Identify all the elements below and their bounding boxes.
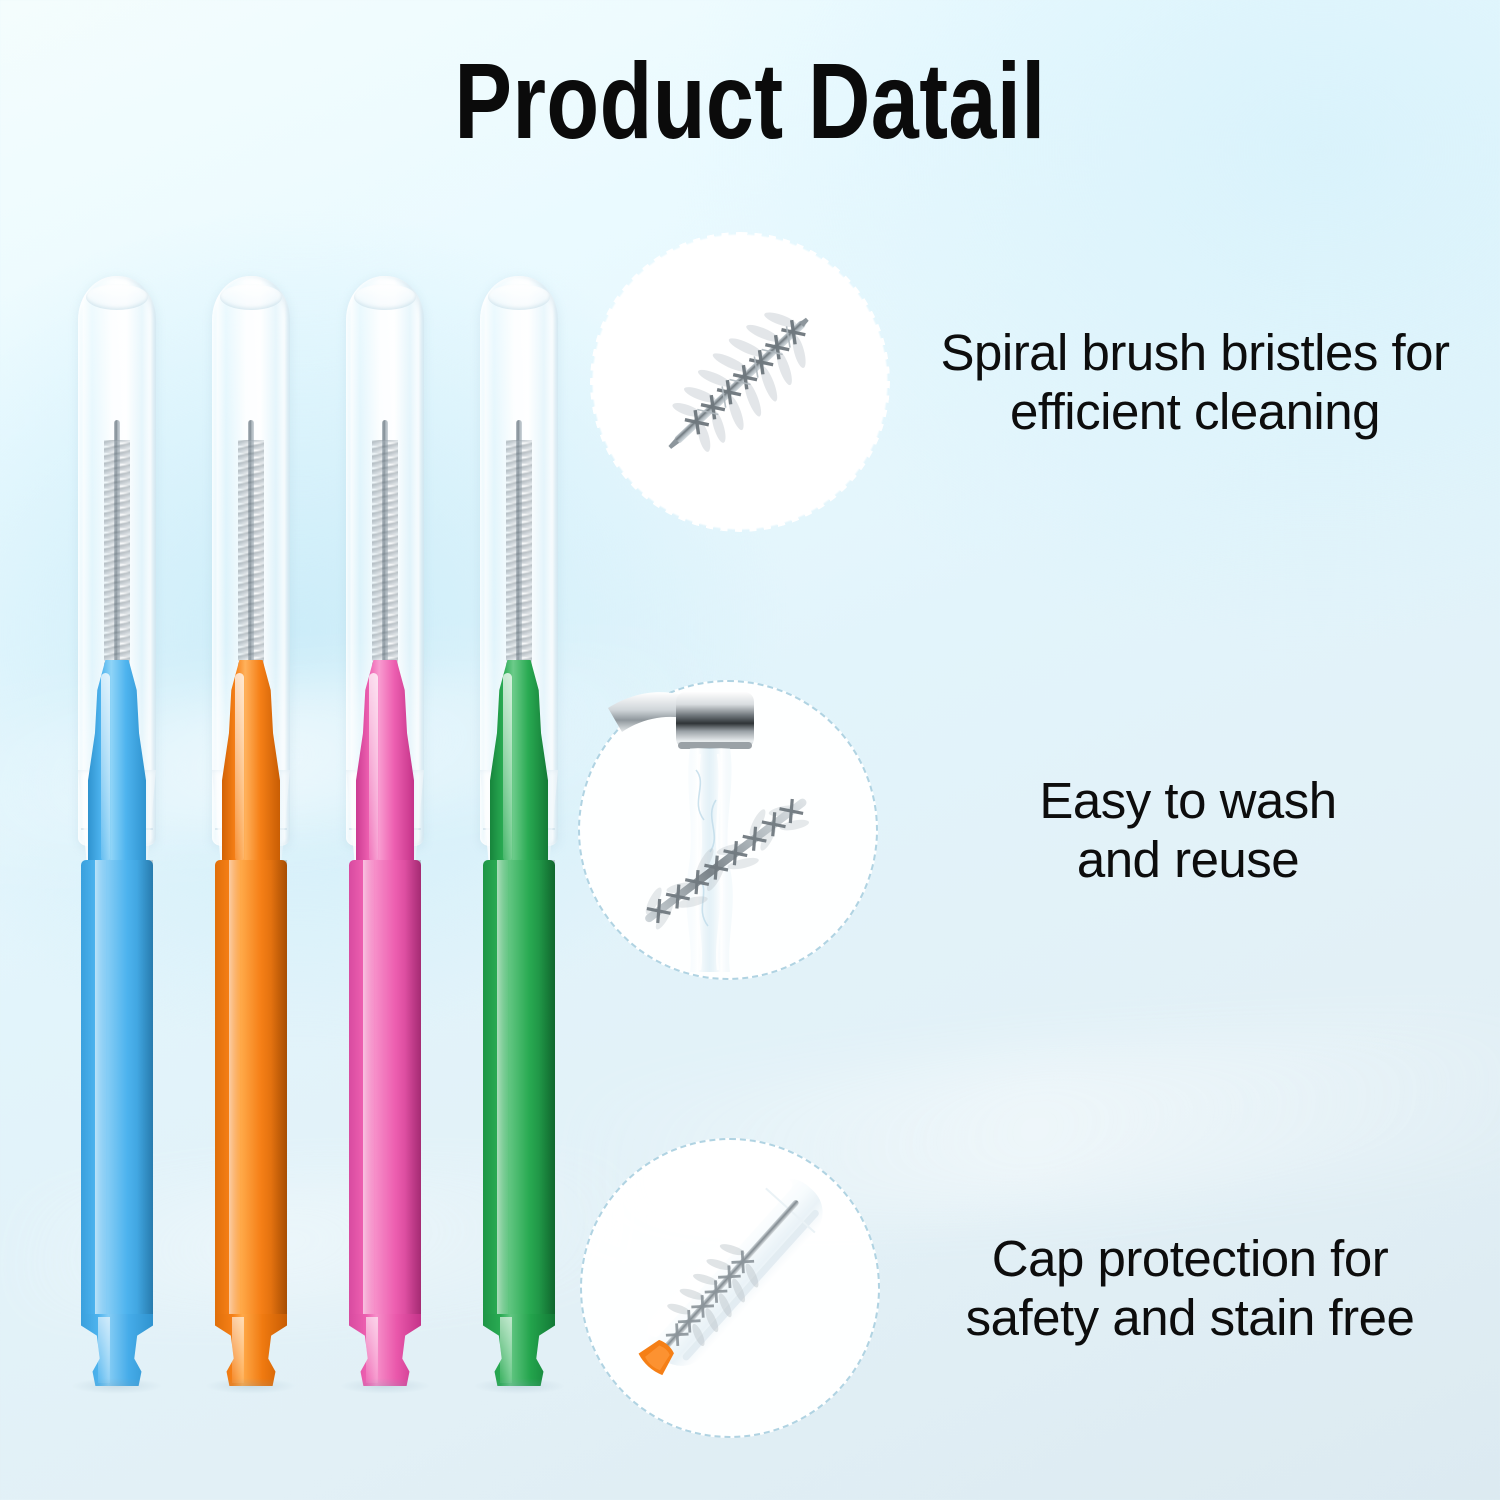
feature-caption-line2: and reuse xyxy=(898,830,1478,889)
feature-caption-line2: safety and stain free xyxy=(900,1288,1480,1347)
handle-shade xyxy=(271,860,287,1320)
handle-shade xyxy=(137,860,153,1320)
feature-image-spiral-brush xyxy=(590,232,890,532)
feature-easy-wash: Easy to wash and reuse xyxy=(578,672,1478,988)
brush-foot xyxy=(81,1314,153,1386)
brush-shadow xyxy=(71,1378,163,1394)
brush-handle xyxy=(349,860,421,1320)
brush-pink xyxy=(330,270,440,1400)
product-lineup xyxy=(40,270,580,1400)
brush-foot xyxy=(483,1314,555,1386)
capped-brush-closeup-icon xyxy=(580,1138,880,1438)
cap-dome xyxy=(488,284,550,310)
tip-gloss xyxy=(369,673,378,862)
spiral-brush-closeup-icon xyxy=(590,232,890,532)
feature-caption-line1: Cap protection for xyxy=(900,1229,1480,1288)
feature-spiral-bristles: Spiral brush bristles for efficient clea… xyxy=(590,232,1480,532)
handle-gloss xyxy=(363,860,374,1320)
brush-handle xyxy=(81,860,153,1320)
brush-shadow xyxy=(205,1378,297,1394)
cap-dome xyxy=(220,284,282,310)
cap-dome xyxy=(354,284,416,310)
feature-caption: Easy to wash and reuse xyxy=(878,771,1478,889)
feature-image-capped-brush xyxy=(580,1138,880,1438)
brush-handle xyxy=(215,860,287,1320)
brush-handle xyxy=(483,860,555,1320)
brush-blue xyxy=(62,270,172,1400)
feature-caption-line1: Spiral brush bristles for xyxy=(910,323,1480,382)
tip-gloss xyxy=(503,673,512,862)
feature-cap-protection: Cap protection for safety and stain free xyxy=(580,1132,1480,1444)
handle-shade xyxy=(539,860,555,1320)
brush-shadow xyxy=(339,1378,431,1394)
feature-caption-line1: Easy to wash xyxy=(898,771,1478,830)
foot-gloss xyxy=(500,1317,512,1383)
handle-gloss xyxy=(497,860,508,1320)
feature-caption: Cap protection for safety and stain free xyxy=(880,1229,1480,1347)
feature-caption-line2: efficient cleaning xyxy=(910,382,1480,441)
cap-dome xyxy=(86,284,148,310)
page-title: Product Datail xyxy=(150,44,1350,157)
tip-gloss xyxy=(235,673,244,862)
feature-image-faucet-wash xyxy=(578,680,878,980)
brush-shadow xyxy=(473,1378,565,1394)
brush-green xyxy=(464,270,574,1400)
foot-gloss xyxy=(98,1317,110,1383)
brush-orange xyxy=(196,270,306,1400)
handle-shade xyxy=(405,860,421,1320)
handle-gloss xyxy=(229,860,240,1320)
feature-caption: Spiral brush bristles for efficient clea… xyxy=(890,323,1480,441)
faucet-washing-brush-icon xyxy=(578,680,878,980)
tip-gloss xyxy=(101,673,110,862)
brush-foot xyxy=(215,1314,287,1386)
handle-gloss xyxy=(95,860,106,1320)
brush-foot xyxy=(349,1314,421,1386)
foot-gloss xyxy=(366,1317,378,1383)
foot-gloss xyxy=(232,1317,244,1383)
